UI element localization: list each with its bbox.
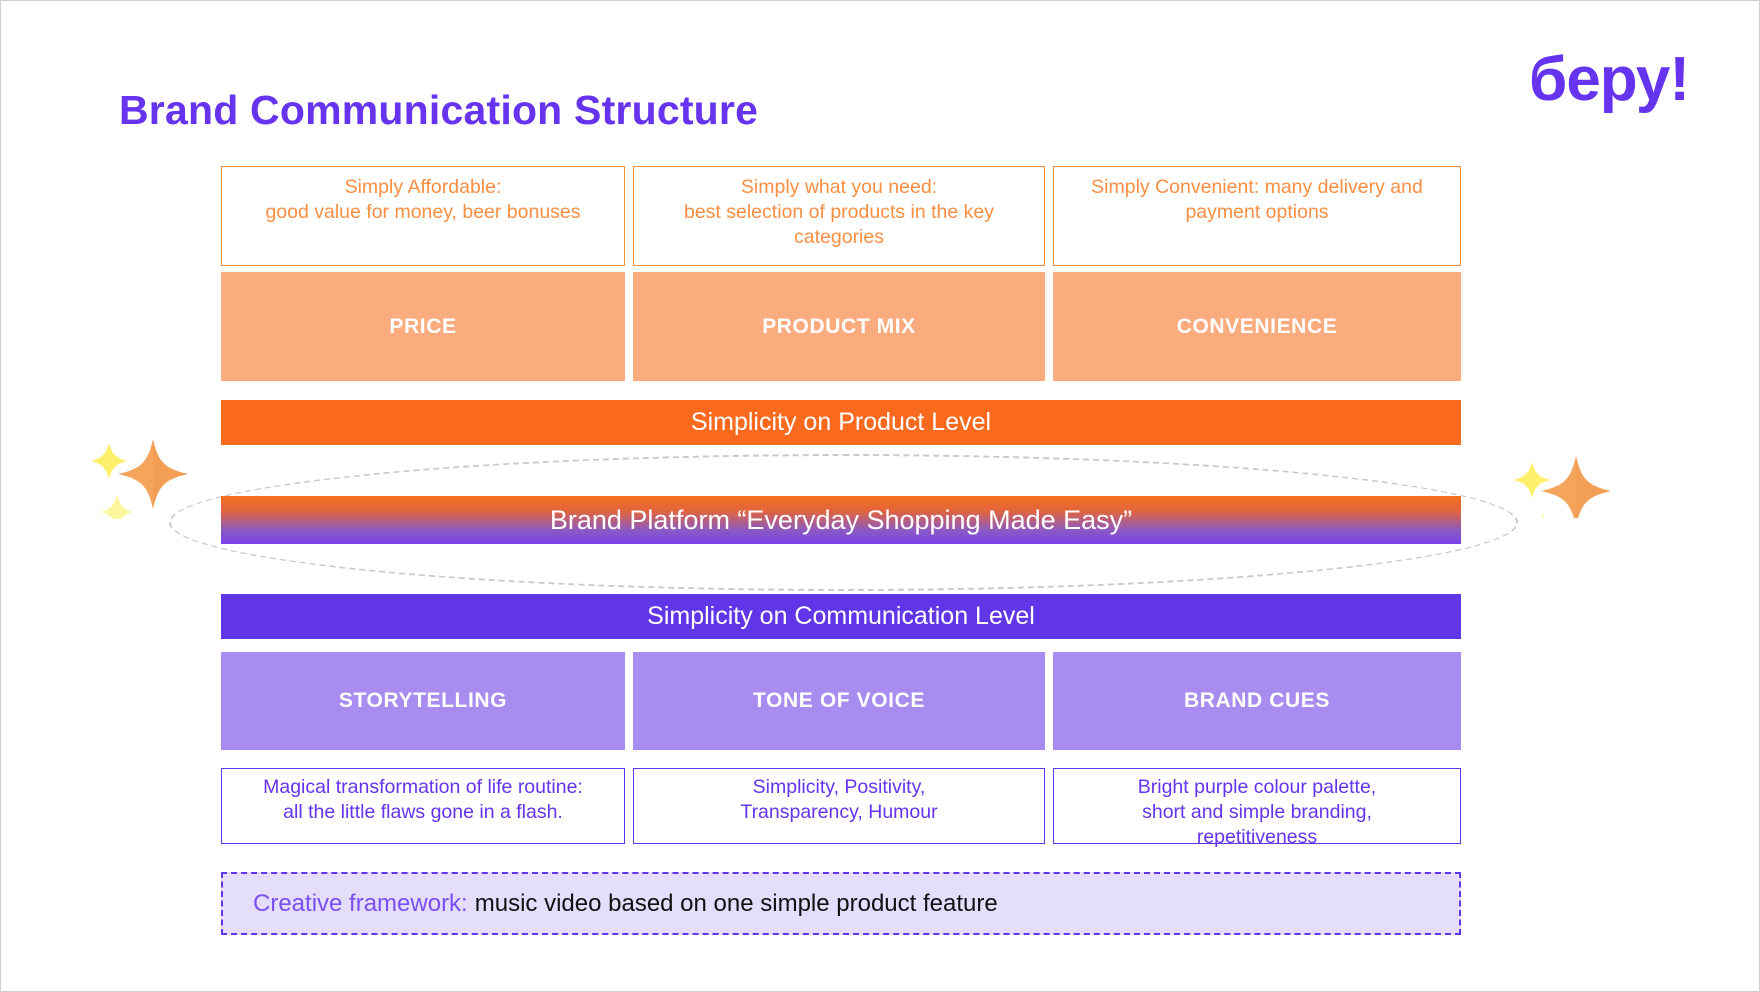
- attribute-box-convenience-text: Simply Convenient: many delivery and pay…: [1066, 175, 1448, 225]
- pillar-tone-of-voice: TONE OF VOICE: [633, 652, 1045, 750]
- page-title: Brand Communication Structure: [119, 87, 758, 134]
- detail-box-brand-cues-text: Bright purple colour palette,short and s…: [1064, 775, 1450, 850]
- detail-box-tone-of-voice-text: Simplicity, Positivity,Transparency, Hum…: [644, 775, 1034, 825]
- creative-framework-text: music video based on one simple product …: [475, 890, 998, 918]
- pillar-storytelling: STORYTELLING: [221, 652, 625, 750]
- communication-details-row: Magical transformation of life routine:a…: [221, 768, 1461, 844]
- creative-framework-box: Creative framework: music video based on…: [221, 872, 1461, 935]
- brand-logo: беру!: [1529, 49, 1689, 111]
- detail-box-tone-of-voice: Simplicity, Positivity,Transparency, Hum…: [633, 768, 1045, 844]
- attribute-box-convenience: Simply Convenient: many delivery and pay…: [1053, 166, 1461, 266]
- pillar-convenience: CONVENIENCE: [1053, 272, 1461, 381]
- product-pillars-row: PRICE PRODUCT MIX CONVENIENCE: [221, 272, 1461, 381]
- sparkle-icon: [87, 433, 199, 519]
- bar-simplicity-product-level: Simplicity on Product Level: [221, 400, 1461, 445]
- pillar-product-mix: PRODUCT MIX: [633, 272, 1045, 381]
- sparkle-icon: [1498, 426, 1610, 518]
- attribute-box-product-mix-text: Simply what you need:best selection of p…: [646, 175, 1032, 250]
- attribute-box-price: Simply Affordable:good value for money, …: [221, 166, 625, 266]
- detail-box-storytelling: Magical transformation of life routine:a…: [221, 768, 625, 844]
- pillar-price: PRICE: [221, 272, 625, 381]
- attribute-box-price-text: Simply Affordable:good value for money, …: [234, 175, 612, 225]
- slide-canvas: Brand Communication Structure беру! Simp…: [0, 0, 1760, 992]
- product-attributes-row: Simply Affordable:good value for money, …: [221, 166, 1461, 266]
- bar-simplicity-communication-level: Simplicity on Communication Level: [221, 594, 1461, 639]
- detail-box-brand-cues: Bright purple colour palette,short and s…: [1053, 768, 1461, 844]
- creative-framework-label: Creative framework:: [253, 890, 468, 918]
- detail-box-storytelling-text: Magical transformation of life routine:a…: [232, 775, 614, 825]
- pillar-brand-cues: BRAND CUES: [1053, 652, 1461, 750]
- attribute-box-product-mix: Simply what you need:best selection of p…: [633, 166, 1045, 266]
- communication-pillars-row: STORYTELLING TONE OF VOICE BRAND CUES: [221, 652, 1461, 750]
- bar-brand-platform: Brand Platform “Everyday Shopping Made E…: [221, 496, 1461, 544]
